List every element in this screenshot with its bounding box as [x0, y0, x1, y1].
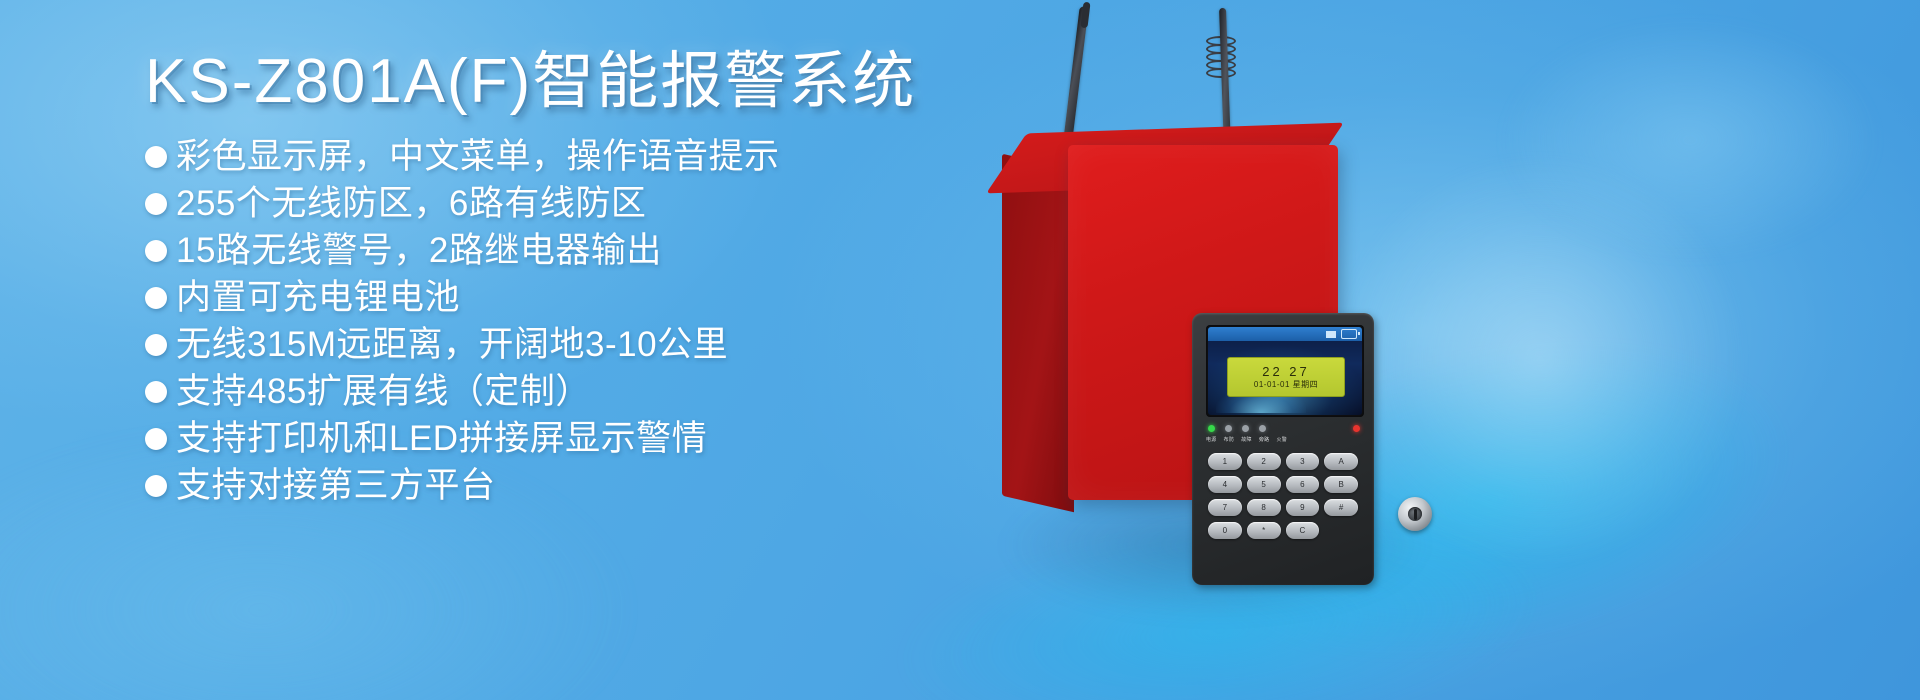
- bullet-icon: [145, 193, 167, 215]
- key-8[interactable]: 8: [1247, 499, 1281, 516]
- key-3[interactable]: 3: [1286, 453, 1320, 470]
- feature-label: 支持485扩展有线（定制）: [176, 374, 591, 409]
- signal-icon: [1326, 331, 1336, 338]
- key-star[interactable]: *: [1247, 522, 1281, 539]
- feature-label: 无线315M远距离，开阔地3-10公里: [176, 327, 728, 362]
- power-led-label: 电源: [1206, 436, 1217, 443]
- key-7[interactable]: 7: [1208, 499, 1242, 516]
- arm-led-label: 布防: [1224, 436, 1235, 443]
- key-lock-icon[interactable]: [1398, 497, 1432, 531]
- bullet-icon: [145, 334, 167, 356]
- enclosure-front: 22 27 01-01-01 星期四 电源 布防 故障: [1068, 145, 1338, 500]
- feature-label: 支持对接第三方平台: [176, 468, 496, 503]
- enclosure-side: [1002, 154, 1074, 513]
- list-item: 内置可充电锂电池: [145, 274, 985, 321]
- list-item: 支持打印机和LED拼接屏显示警情: [145, 415, 985, 462]
- key-1[interactable]: 1: [1208, 453, 1242, 470]
- key-5[interactable]: 5: [1247, 476, 1281, 493]
- key-4[interactable]: 4: [1208, 476, 1242, 493]
- feature-label: 255个无线防区，6路有线防区: [176, 186, 646, 221]
- alarm-control-panel-image: 22 27 01-01-01 星期四 电源 布防 故障: [960, 0, 1920, 700]
- feature-label: 支持打印机和LED拼接屏显示警情: [176, 421, 707, 456]
- bullet-icon: [145, 428, 167, 450]
- key-6[interactable]: 6: [1286, 476, 1320, 493]
- list-item: 彩色显示屏，中文菜单，操作语音提示: [145, 133, 985, 180]
- lcd-screen[interactable]: 22 27 01-01-01 星期四: [1208, 327, 1362, 415]
- fault-led-label: 故障: [1241, 436, 1252, 443]
- feature-label: 内置可充电锂电池: [176, 280, 460, 315]
- lcd-date: 01-01-01 星期四: [1254, 381, 1318, 389]
- fault-led: [1242, 425, 1249, 432]
- product-banner: KS-Z801A(F)智能报警系统 彩色显示屏，中文菜单，操作语音提示 255个…: [0, 0, 1920, 700]
- lcd-bezel: 22 27 01-01-01 星期四: [1206, 325, 1364, 417]
- status-led-row: [1208, 425, 1360, 432]
- bullet-icon: [145, 240, 167, 262]
- lcd-status-bar: [1208, 327, 1362, 341]
- list-item: 无线315M远距离，开阔地3-10公里: [145, 321, 985, 368]
- keypad: 1 2 3 A 4 5 6 B 7 8 9 # 0 * C: [1208, 453, 1358, 539]
- feature-label: 彩色显示屏，中文菜单，操作语音提示: [176, 139, 780, 174]
- key-0[interactable]: 0: [1208, 522, 1242, 539]
- key-b[interactable]: B: [1324, 476, 1358, 493]
- product-title: KS-Z801A(F)智能报警系统: [145, 46, 985, 117]
- key-2[interactable]: 2: [1247, 453, 1281, 470]
- list-item: 支持对接第三方平台: [145, 462, 985, 509]
- alarm-led: [1353, 425, 1360, 432]
- bypass-led: [1259, 425, 1266, 432]
- arm-led: [1225, 425, 1232, 432]
- key-9[interactable]: 9: [1286, 499, 1320, 516]
- list-item: 支持485扩展有线（定制）: [145, 368, 985, 415]
- alarm-led-label: 火警: [1276, 436, 1287, 443]
- bypass-led-label: 旁路: [1259, 436, 1270, 443]
- list-item: 255个无线防区，6路有线防区: [145, 180, 985, 227]
- bullet-icon: [145, 146, 167, 168]
- battery-icon: [1341, 329, 1357, 339]
- power-led: [1208, 425, 1215, 432]
- key-hash[interactable]: #: [1324, 499, 1358, 516]
- key-c[interactable]: C: [1286, 522, 1320, 539]
- control-faceplate: 22 27 01-01-01 星期四 电源 布防 故障: [1192, 313, 1374, 585]
- bullet-icon: [145, 475, 167, 497]
- banner-text-column: KS-Z801A(F)智能报警系统 彩色显示屏，中文菜单，操作语音提示 255个…: [145, 46, 985, 509]
- key-a[interactable]: A: [1324, 453, 1358, 470]
- feature-label: 15路无线警号，2路继电器输出: [176, 233, 662, 268]
- lcd-info-card: 22 27 01-01-01 星期四: [1227, 357, 1345, 397]
- list-item: 15路无线警号，2路继电器输出: [145, 227, 985, 274]
- feature-list: 彩色显示屏，中文菜单，操作语音提示 255个无线防区，6路有线防区 15路无线警…: [145, 133, 985, 509]
- lcd-time: 22 27: [1262, 365, 1310, 378]
- status-led-labels: 电源 布防 故障 旁路 火警: [1206, 436, 1362, 443]
- bullet-icon: [145, 287, 167, 309]
- bullet-icon: [145, 381, 167, 403]
